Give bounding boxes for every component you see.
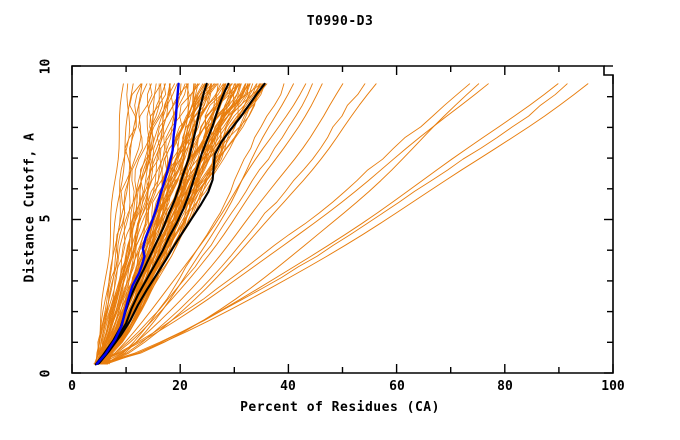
ensemble-curves xyxy=(94,84,266,364)
chart-container: T0990-D3 Percent of Residues (CA) Distan… xyxy=(0,0,680,440)
curves-layer xyxy=(94,84,588,365)
chart-plot-area xyxy=(0,0,680,440)
